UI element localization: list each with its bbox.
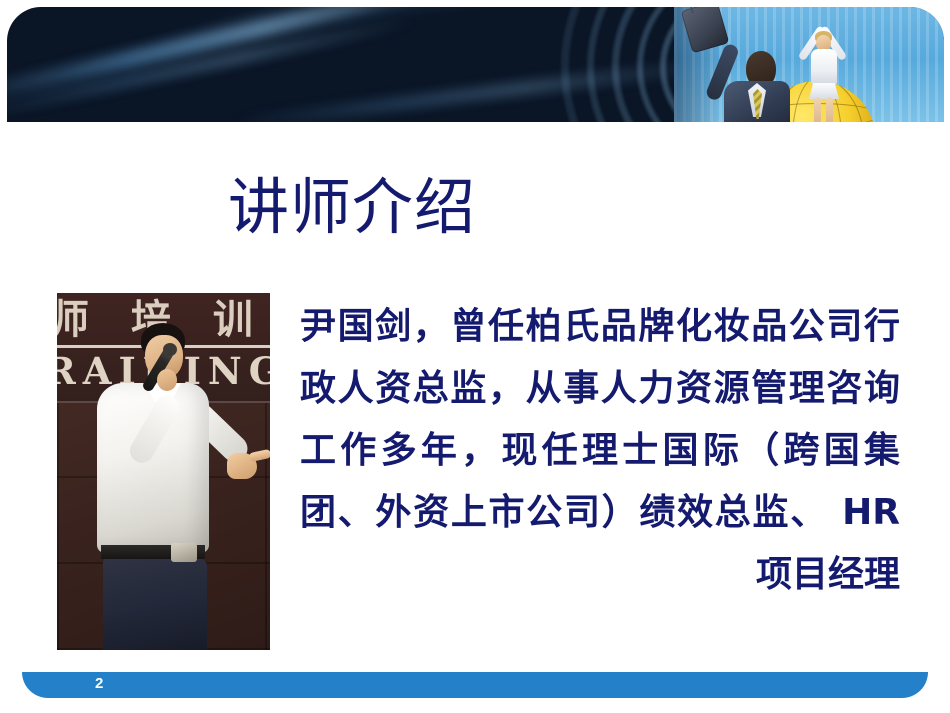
page-title: 讲师介绍 [228,172,476,244]
footer-bar [22,672,928,698]
header-banner-image [7,7,944,122]
speaker-photo: 师 培 训 RAINING C [57,293,270,650]
belt-buckle [171,543,197,562]
page-number: 2 [95,675,103,692]
presentation-slide: 讲师介绍 师 培 训 RAINING C 尹国剑，曾任柏氏品牌化妆 [0,0,950,713]
success-people-scene [674,7,944,122]
trousers [103,557,207,650]
businesswoman-figure [796,15,866,122]
microphone-hand [157,369,177,391]
instructor-bio-text: 尹国剑，曾任柏氏品牌化妆品公司行政人资总监，从事人力资源管理咨询工作多年，现任理… [300,296,900,606]
microphone-head-icon [163,343,177,356]
